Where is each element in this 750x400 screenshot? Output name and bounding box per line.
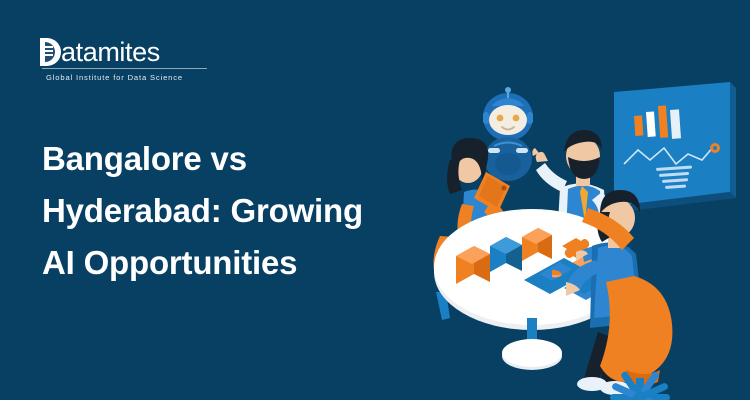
headline-line-3: AI Opportunities [42, 237, 462, 289]
dashboard-screen-icon [614, 82, 736, 212]
blog-banner: atamites Global Institute for Data Scien… [0, 0, 750, 400]
logo-tagline: Global Institute for Data Science [46, 73, 240, 82]
headline-line-1: Bangalore vs [42, 133, 462, 185]
page-title: Bangalore vs Hyderabad: Growing AI Oppor… [42, 133, 462, 289]
logo-d-mark-icon [40, 38, 61, 66]
datamites-logo[interactable]: atamites Global Institute for Data Scien… [40, 36, 240, 82]
hero-illustration [412, 60, 750, 400]
robot-hologram-icon [483, 87, 533, 181]
logo-wordmark: atamites [40, 36, 240, 66]
logo-divider [42, 68, 207, 69]
headline-line-2: Hyderabad: Growing [42, 185, 462, 237]
logo-wordmark-text: atamites [61, 38, 160, 66]
